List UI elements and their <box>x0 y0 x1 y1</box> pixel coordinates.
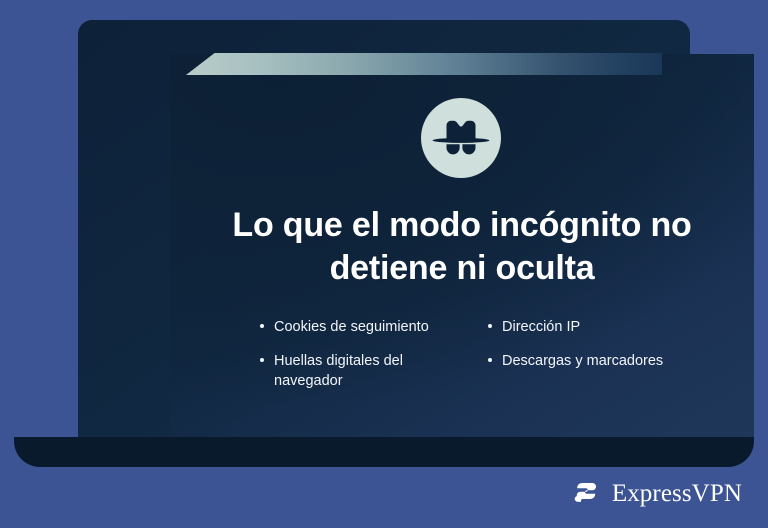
laptop-base <box>14 437 754 467</box>
expressvpn-brand-logo: ExpressVPN <box>571 478 742 508</box>
slide-title: Lo que el modo incógnito no detiene ni o… <box>198 204 726 290</box>
bullet-column-left: Cookies de seguimiento Huellas digitales… <box>258 317 458 391</box>
list-item: Huellas digitales del navegador <box>258 351 458 391</box>
incognito-icon <box>421 98 501 178</box>
laptop-body: Lo que el modo incógnito no detiene ni o… <box>78 20 690 438</box>
bullet-column-right: Dirección IP Descargas y marcadores <box>486 317 666 371</box>
bullet-dot-icon <box>260 324 264 328</box>
list-item: Dirección IP <box>486 317 666 337</box>
bullet-list-area: Cookies de seguimiento Huellas digitales… <box>258 317 678 391</box>
expressvpn-logo-mark <box>571 478 601 508</box>
slide-stage: Lo que el modo incógnito no detiene ni o… <box>0 0 768 528</box>
slide-title-line-1: Lo que el modo incógnito no <box>198 204 726 247</box>
list-item-label: Cookies de seguimiento <box>274 319 429 335</box>
list-item: Descargas y marcadores <box>486 351 666 371</box>
screen-glare-band <box>186 53 662 75</box>
list-item-label: Dirección IP <box>502 319 580 335</box>
bullet-dot-icon <box>260 358 264 362</box>
bullet-dot-icon <box>488 358 492 362</box>
list-item-label: Descargas y marcadores <box>502 353 663 369</box>
list-item: Cookies de seguimiento <box>258 317 458 337</box>
slide-title-line-2: detiene ni oculta <box>198 247 726 290</box>
bullet-dot-icon <box>488 324 492 328</box>
list-item-label: Huellas digitales del navegador <box>274 353 403 389</box>
expressvpn-wordmark: ExpressVPN <box>612 481 742 506</box>
